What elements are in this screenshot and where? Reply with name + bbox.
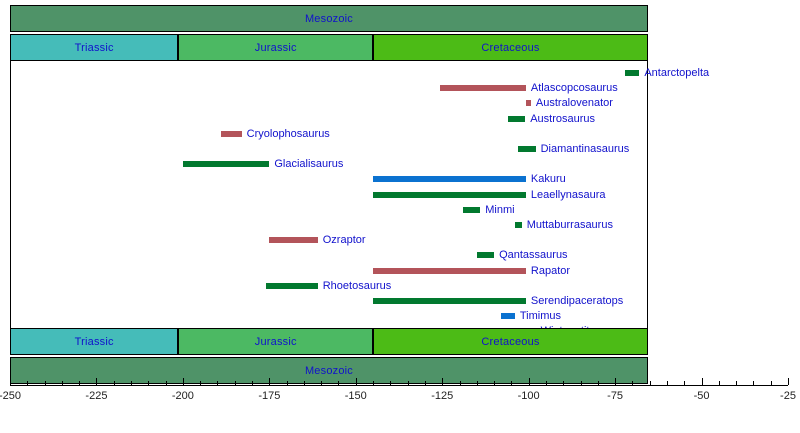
x-axis-minor-tick xyxy=(114,381,115,385)
x-axis-minor-tick xyxy=(62,381,63,385)
taxon-row: Atlascopcosaurus xyxy=(0,81,800,95)
range-bar-muttaburrasaurus[interactable] xyxy=(515,222,522,228)
range-bar-austrosaurus[interactable] xyxy=(508,116,525,122)
range-bar-antarctopelta[interactable] xyxy=(625,70,639,76)
x-axis-minor-tick xyxy=(511,381,512,385)
x-axis-minor-tick xyxy=(753,381,754,385)
x-axis-tick-label: -175 xyxy=(258,390,280,402)
x-axis-minor-tick xyxy=(667,381,668,385)
range-bar-rapator[interactable] xyxy=(373,268,526,274)
range-bar-timimus[interactable] xyxy=(501,313,515,319)
taxon-row: Minmi xyxy=(0,203,800,217)
x-axis-minor-tick xyxy=(460,381,461,385)
taxon-row: Qantassaurus xyxy=(0,248,800,262)
period-band-bottom-triassic: Triassic xyxy=(10,328,178,355)
taxon-row: Rapator xyxy=(0,264,800,278)
x-axis-minor-tick xyxy=(304,381,305,385)
x-axis-minor-tick xyxy=(131,381,132,385)
x-axis-minor-tick xyxy=(338,381,339,385)
taxon-label-serendipaceratops: Serendipaceratops xyxy=(531,294,623,308)
x-axis-minor-tick xyxy=(45,381,46,385)
period-band-cretaceous-label: Cretaceous xyxy=(481,42,539,54)
x-axis-minor-tick xyxy=(390,381,391,385)
x-axis-minor-tick xyxy=(425,381,426,385)
range-bar-serendipaceratops[interactable] xyxy=(373,298,526,304)
range-bar-cryolophosaurus[interactable] xyxy=(221,131,242,137)
range-bar-ozraptor[interactable] xyxy=(269,237,317,243)
x-axis-minor-tick xyxy=(632,381,633,385)
taxon-label-antarctopelta: Antarctopelta xyxy=(644,66,709,80)
x-axis-major-tick xyxy=(269,378,270,385)
x-axis-major-tick xyxy=(96,378,97,385)
range-bar-australovenator[interactable] xyxy=(526,100,531,106)
x-axis-major-tick xyxy=(615,378,616,385)
taxon-row: Serendipaceratops xyxy=(0,294,800,308)
taxon-label-ozraptor: Ozraptor xyxy=(323,233,366,247)
x-axis-major-tick xyxy=(356,378,357,385)
era-band-mesozoic: Mesozoic xyxy=(10,5,648,32)
x-axis-minor-tick xyxy=(581,381,582,385)
x-axis-minor-tick xyxy=(166,381,167,385)
x-axis-major-tick xyxy=(788,378,789,385)
timeline-chart: MesozoicTriassicJurassicCretaceousAntarc… xyxy=(0,0,800,433)
x-axis-tick-label: -100 xyxy=(518,390,540,402)
x-axis-minor-tick xyxy=(27,381,28,385)
period-band-bottom-triassic-label: Triassic xyxy=(75,336,114,348)
taxon-row: Glacialisaurus xyxy=(0,157,800,171)
x-axis-minor-tick xyxy=(252,381,253,385)
x-axis-minor-tick xyxy=(373,381,374,385)
x-axis-minor-tick xyxy=(217,381,218,385)
period-band-triassic: Triassic xyxy=(10,34,178,61)
x-axis-tick-label: -125 xyxy=(431,390,453,402)
x-axis-minor-tick xyxy=(494,381,495,385)
taxon-row: Antarctopelta xyxy=(0,66,800,80)
taxon-label-minmi: Minmi xyxy=(485,203,514,217)
range-bar-kakuru[interactable] xyxy=(373,176,526,182)
x-axis-minor-tick xyxy=(736,381,737,385)
range-bar-minmi[interactable] xyxy=(463,207,480,213)
x-axis-tick-label: -250 xyxy=(0,390,21,402)
taxon-label-atlascopcosaurus: Atlascopcosaurus xyxy=(531,81,618,95)
x-axis-major-tick xyxy=(183,378,184,385)
x-axis-minor-tick xyxy=(287,381,288,385)
taxon-row: Timimus xyxy=(0,309,800,323)
taxon-row: Australovenator xyxy=(0,96,800,110)
x-axis-minor-tick xyxy=(563,381,564,385)
range-bar-diamantinasaurus[interactable] xyxy=(518,146,535,152)
taxon-row: Muttaburrasaurus xyxy=(0,218,800,232)
x-axis-minor-tick xyxy=(598,381,599,385)
range-bar-rhoetosaurus[interactable] xyxy=(266,283,318,289)
taxon-row: Rhoetosaurus xyxy=(0,279,800,293)
x-axis-minor-tick xyxy=(148,381,149,385)
taxon-label-glacialisaurus: Glacialisaurus xyxy=(274,157,343,171)
taxon-row: Kakuru xyxy=(0,172,800,186)
x-axis-tick-label: -75 xyxy=(607,390,623,402)
x-axis-minor-tick xyxy=(546,381,547,385)
period-band-bottom-cretaceous-label: Cretaceous xyxy=(481,336,539,348)
taxon-row: Diamantinasaurus xyxy=(0,142,800,156)
x-axis-tick-label: -25 xyxy=(780,390,796,402)
period-band-bottom-cretaceous: Cretaceous xyxy=(373,328,648,355)
taxon-label-australovenator: Australovenator xyxy=(536,96,613,110)
x-axis-minor-tick xyxy=(235,381,236,385)
x-axis-minor-tick xyxy=(771,381,772,385)
period-band-bottom-jurassic-label: Jurassic xyxy=(255,336,297,348)
x-axis-minor-tick xyxy=(477,381,478,385)
x-axis-tick-label: -225 xyxy=(85,390,107,402)
era-band-bottom-mesozoic-label: Mesozoic xyxy=(305,365,353,377)
taxon-label-leaellynasaura: Leaellynasaura xyxy=(531,188,606,202)
x-axis-tick-label: -50 xyxy=(694,390,710,402)
period-band-bottom-jurassic: Jurassic xyxy=(178,328,373,355)
taxon-label-rhoetosaurus: Rhoetosaurus xyxy=(323,279,392,293)
taxon-label-austrosaurus: Austrosaurus xyxy=(530,112,595,126)
x-axis-major-tick xyxy=(442,378,443,385)
taxon-row: Austrosaurus xyxy=(0,112,800,126)
x-axis-minor-tick xyxy=(408,381,409,385)
x-axis-tick-label: -200 xyxy=(172,390,194,402)
period-band-triassic-label: Triassic xyxy=(75,42,114,54)
taxon-label-timimus: Timimus xyxy=(520,309,561,323)
range-bar-atlascopcosaurus[interactable] xyxy=(440,85,525,91)
taxon-label-diamantinasaurus: Diamantinasaurus xyxy=(541,142,630,156)
x-axis-minor-tick xyxy=(200,381,201,385)
x-axis-minor-tick xyxy=(684,381,685,385)
period-band-cretaceous: Cretaceous xyxy=(373,34,648,61)
taxon-label-rapator: Rapator xyxy=(531,264,570,278)
taxon-label-qantassaurus: Qantassaurus xyxy=(499,248,567,262)
x-axis-line xyxy=(10,385,788,386)
taxon-row: Leaellynasaura xyxy=(0,188,800,202)
x-axis-major-tick xyxy=(529,378,530,385)
taxon-row: Cryolophosaurus xyxy=(0,127,800,141)
x-axis-tick-label: -150 xyxy=(345,390,367,402)
period-band-jurassic-label: Jurassic xyxy=(255,42,297,54)
x-axis-major-tick xyxy=(702,378,703,385)
taxon-label-kakuru: Kakuru xyxy=(531,172,566,186)
era-band-mesozoic-label: Mesozoic xyxy=(305,13,353,25)
taxon-label-muttaburrasaurus: Muttaburrasaurus xyxy=(527,218,613,232)
x-axis-major-tick xyxy=(10,378,11,385)
taxon-row: Ozraptor xyxy=(0,233,800,247)
range-bar-qantassaurus[interactable] xyxy=(477,252,494,258)
x-axis-minor-tick xyxy=(79,381,80,385)
x-axis-minor-tick xyxy=(321,381,322,385)
era-band-bottom-mesozoic: Mesozoic xyxy=(10,357,648,384)
range-bar-leaellynasaura[interactable] xyxy=(373,192,526,198)
x-axis-minor-tick xyxy=(650,381,651,385)
taxon-label-cryolophosaurus: Cryolophosaurus xyxy=(247,127,330,141)
period-band-jurassic: Jurassic xyxy=(178,34,373,61)
range-bar-glacialisaurus[interactable] xyxy=(183,161,269,167)
x-axis-minor-tick xyxy=(719,381,720,385)
